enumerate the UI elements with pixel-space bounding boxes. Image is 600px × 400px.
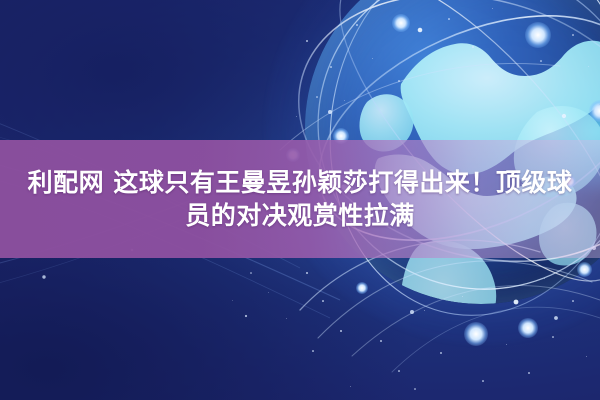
headline-band: 利配网 这球只有王曼昱孙颖莎打得出来！顶级球 员的对决观赏性拉满 [0,140,600,258]
headline-line-2: 员的对决观赏性拉满 [185,201,415,231]
headline-text-block: 利配网 这球只有王曼昱孙颖莎打得出来！顶级球 员的对决观赏性拉满 [0,140,600,258]
banner-image: 利配网 这球只有王曼昱孙颖莎打得出来！顶级球 员的对决观赏性拉满 [0,0,600,400]
headline-line-1: 利配网 这球只有王曼昱孙颖莎打得出来！顶级球 [28,168,573,198]
